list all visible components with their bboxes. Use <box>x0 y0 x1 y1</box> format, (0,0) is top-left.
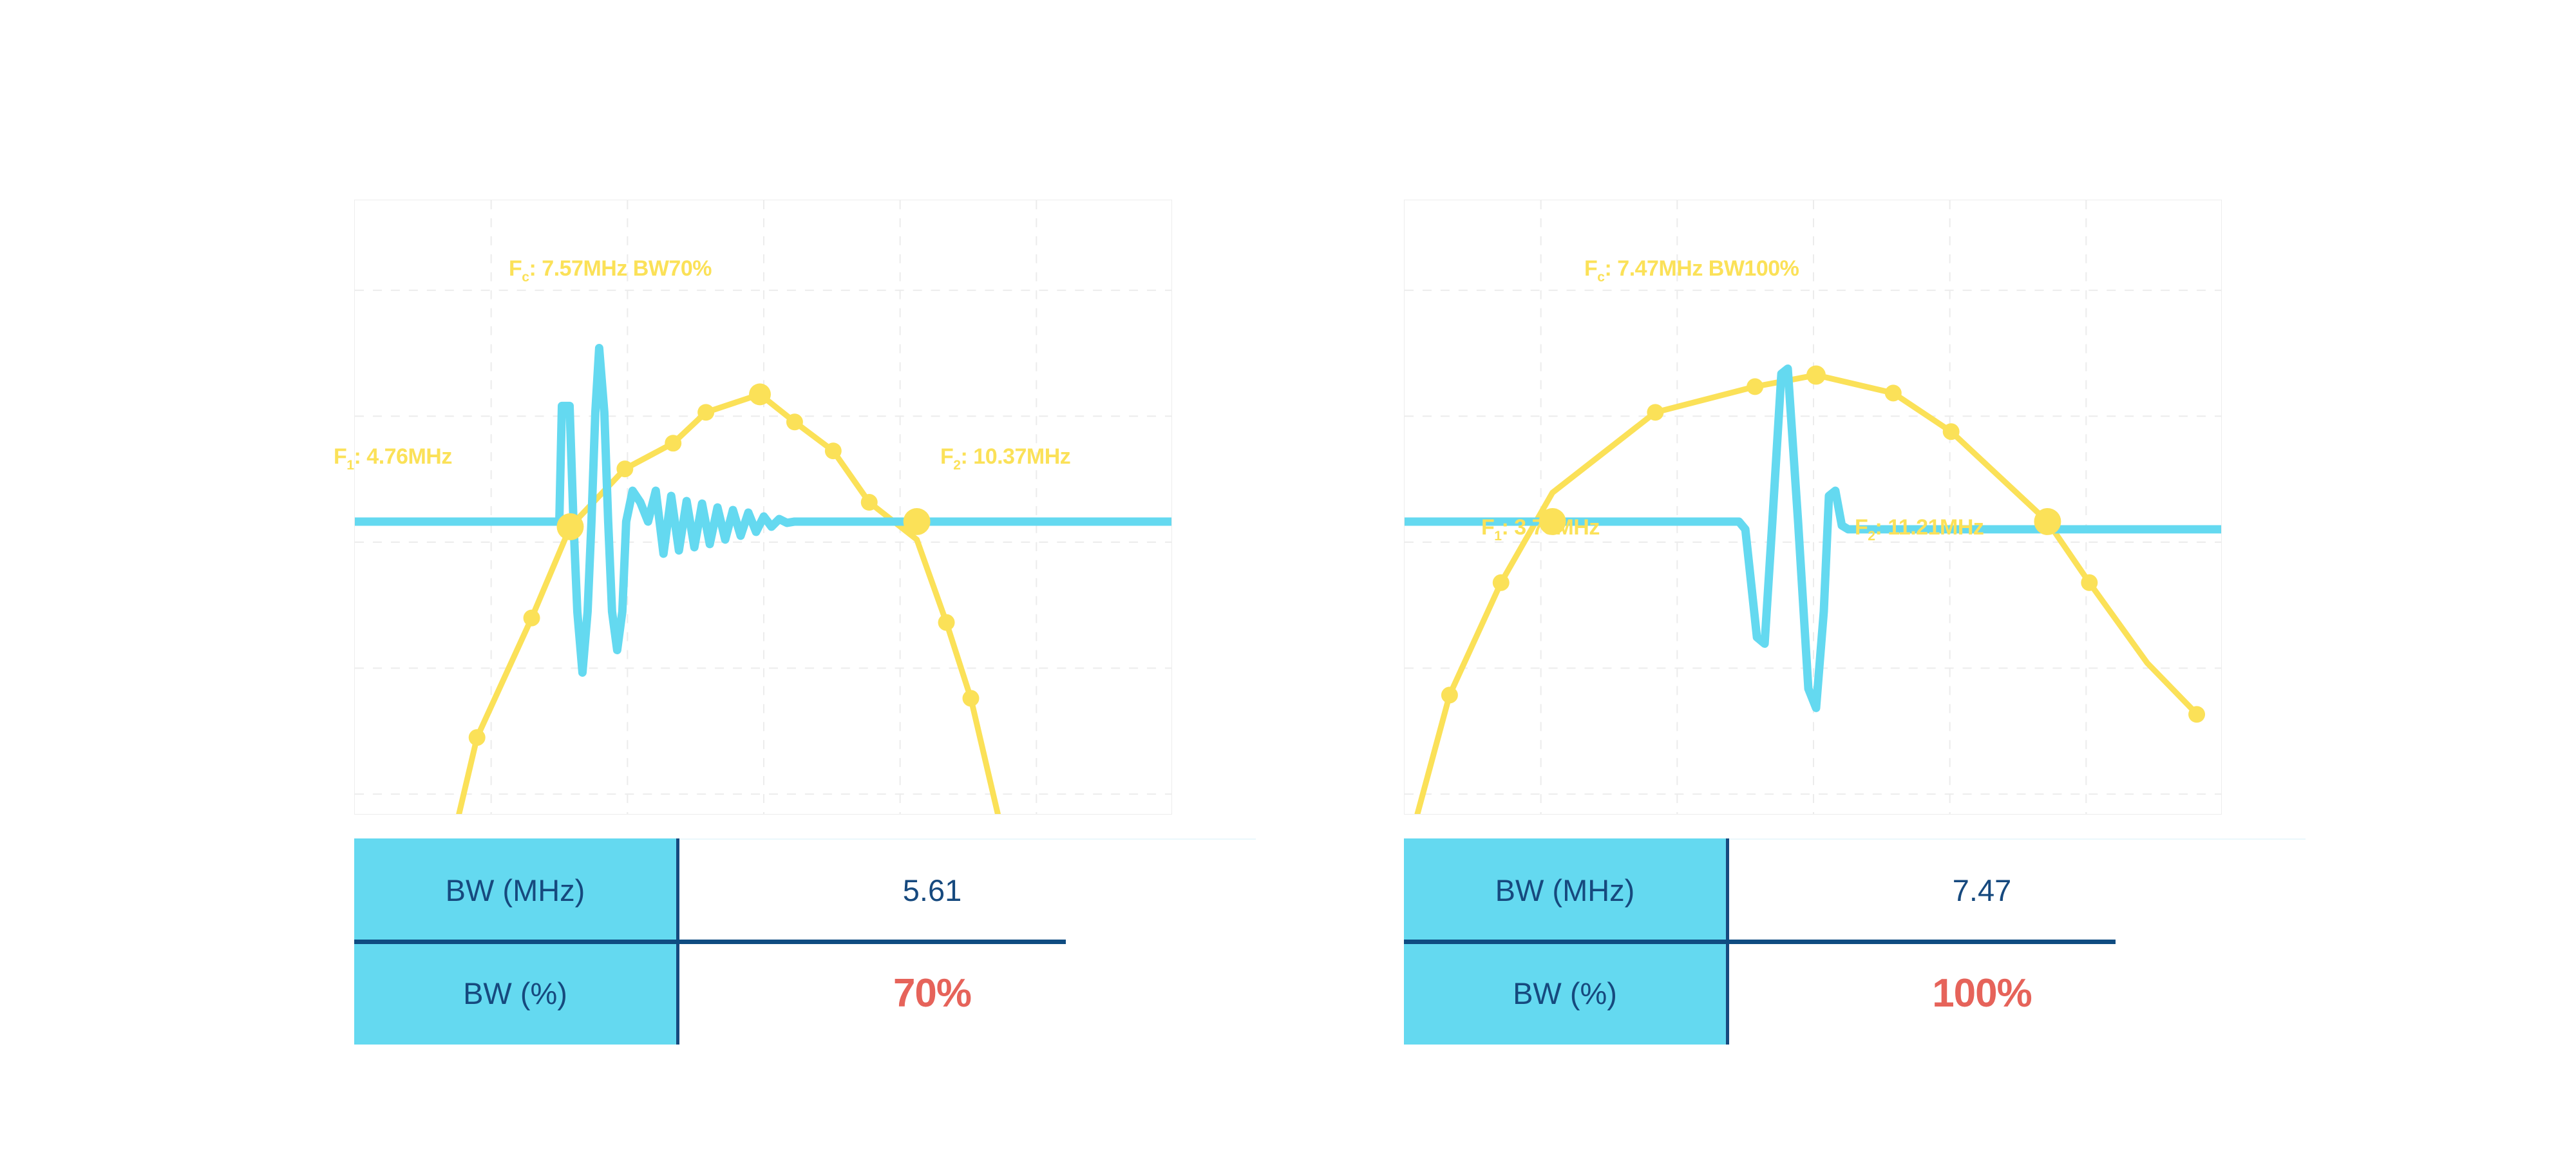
spectrum-curve <box>1417 375 2197 814</box>
bandwidth-table-right: BW (MHz) 7.47 BW (%) 100% <box>1404 838 2238 1045</box>
label-lower-cutoff: F1: 3.73MHz <box>1481 516 1600 543</box>
comparison-figure: Fc: 7.57MHz BW70% F1: 4.76MHz F2: 10.37M… <box>0 0 2576 1154</box>
label-center-frequency: Fc: 7.57MHz BW70% <box>509 258 712 284</box>
row-value-bw-percent: 100% <box>1726 941 2238 1045</box>
label-upper-cutoff: F2: 10.37MHz <box>940 446 1070 472</box>
bw-percent-value: 70% <box>893 970 971 1016</box>
table-row: BW (MHz) 7.47 <box>1404 838 2238 941</box>
row-label-bw-mhz: BW (MHz) <box>354 838 676 941</box>
table-top-hairline <box>1726 838 2306 840</box>
row-label-bw-percent: BW (%) <box>1404 941 1726 1045</box>
bw-percent-value: 100% <box>1932 970 2032 1016</box>
row-value-bw-mhz: 5.61 <box>676 838 1188 941</box>
chart-left-plot <box>355 200 1171 814</box>
table-row: BW (%) 70% <box>354 941 1188 1045</box>
row-value-bw-mhz: 7.47 <box>1726 838 2238 941</box>
chart-right-plot <box>1405 200 2221 814</box>
panel-left: Fc: 7.57MHz BW70% F1: 4.76MHz F2: 10.37M… <box>277 0 1372 1154</box>
table-middle-rule <box>1404 940 2116 944</box>
label-lower-cutoff: F1: 4.76MHz <box>334 446 452 472</box>
table-row: BW (%) 100% <box>1404 941 2238 1045</box>
spectrum-curve <box>459 394 998 814</box>
gridlines <box>1405 200 2221 814</box>
table-top-hairline <box>676 838 1256 840</box>
chart-right <box>1404 200 2222 815</box>
label-upper-cutoff: F2: 11.21MHz <box>1855 516 1984 543</box>
spectrum-markers <box>469 383 980 746</box>
bw-mhz-value: 7.47 <box>1953 873 2011 908</box>
table-row: BW (MHz) 5.61 <box>354 838 1188 941</box>
bandwidth-table-left: BW (MHz) 5.61 BW (%) 70% <box>354 838 1188 1045</box>
panel-right: Fc: 7.47MHz BW100% F1: 3.73MHz F2: 11.21… <box>1327 0 2421 1154</box>
chart-left <box>354 200 1172 815</box>
table-middle-rule <box>354 940 1066 944</box>
row-value-bw-percent: 70% <box>676 941 1188 1045</box>
bw-mhz-value: 5.61 <box>903 873 961 908</box>
label-center-frequency: Fc: 7.47MHz BW100% <box>1584 258 1799 284</box>
row-label-bw-mhz: BW (MHz) <box>1404 838 1726 941</box>
row-label-bw-percent: BW (%) <box>354 941 676 1045</box>
gridlines <box>355 200 1171 814</box>
